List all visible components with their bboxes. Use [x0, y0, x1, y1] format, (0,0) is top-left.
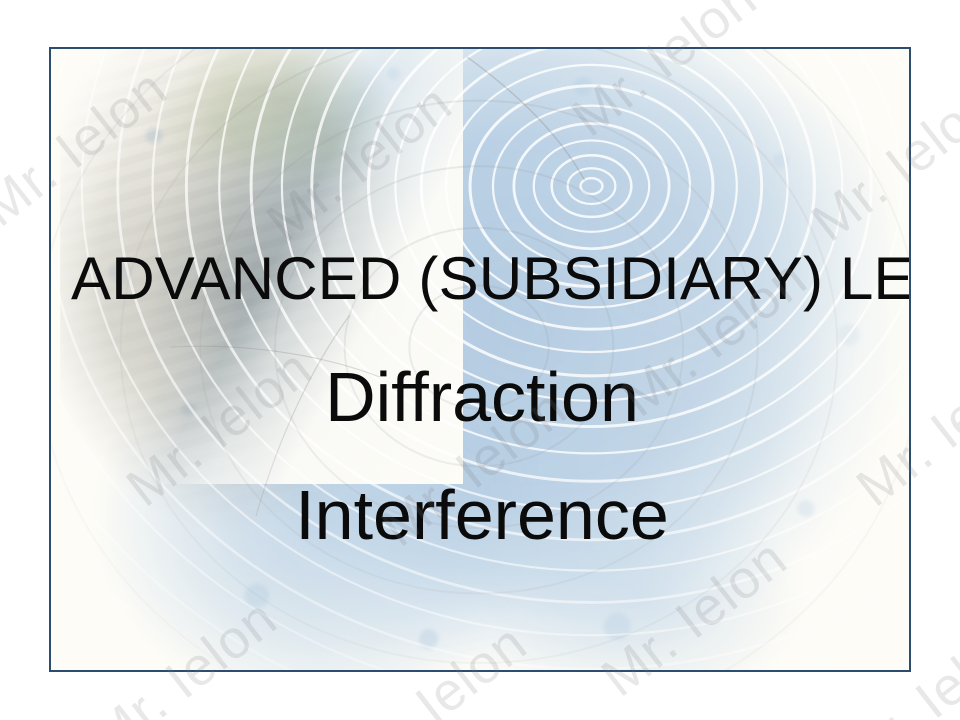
slide-screen: ADVANCED (SUBSIDIARY) LEVEL Diffraction … [0, 0, 960, 720]
slide-title: ADVANCED (SUBSIDIARY) LEVEL [71, 247, 893, 310]
slide-text-layer: ADVANCED (SUBSIDIARY) LEVEL Diffraction … [51, 49, 909, 670]
watermark-text: Mr. Ielon [180, 0, 388, 9]
slide-canvas: ADVANCED (SUBSIDIARY) LEVEL Diffraction … [51, 49, 909, 670]
slide-topic-diffraction: Diffraction [71, 361, 893, 435]
slide-frame: ADVANCED (SUBSIDIARY) LEVEL Diffraction … [49, 47, 911, 672]
slide-topic-interference: Interference [71, 479, 893, 553]
